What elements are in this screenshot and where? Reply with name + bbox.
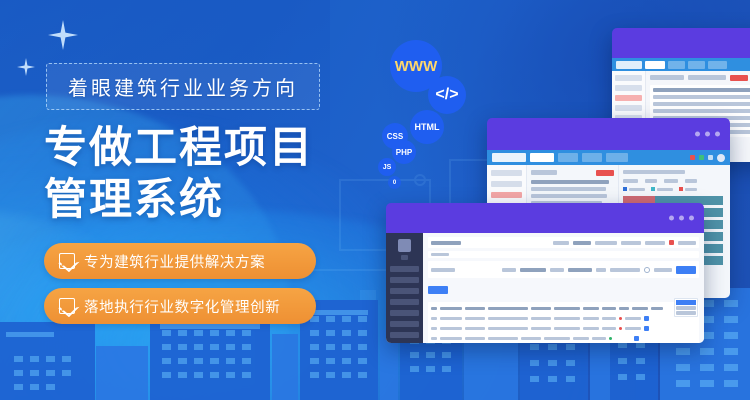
- nav-tab[interactable]: [688, 61, 705, 69]
- toolbar-item-active[interactable]: [573, 241, 591, 245]
- filter-field[interactable]: [520, 268, 546, 272]
- tech-bubble-zero-label: 0: [393, 180, 396, 186]
- table-row: [653, 95, 750, 99]
- notification-icon[interactable]: [690, 155, 695, 160]
- nav-tab[interactable]: [558, 153, 578, 162]
- sidebar-item-active[interactable]: [491, 192, 522, 198]
- edit-icon[interactable]: [644, 326, 649, 331]
- sidebar-item[interactable]: [491, 181, 522, 187]
- status-badge: [609, 337, 612, 340]
- menu-item[interactable]: [676, 311, 696, 315]
- table-row: [653, 88, 750, 92]
- menu-item-active[interactable]: [676, 300, 696, 305]
- dashboard-window-front[interactable]: [386, 203, 704, 343]
- field-label: [531, 170, 557, 175]
- toolbar-item[interactable]: [595, 241, 617, 245]
- axis-tick-label: [685, 179, 697, 183]
- primary-button[interactable]: [730, 75, 748, 81]
- sidebar-item[interactable]: [390, 299, 419, 305]
- filter-field[interactable]: [502, 268, 516, 272]
- sidebar-item[interactable]: [615, 75, 642, 81]
- feature-pill-2[interactable]: 落地执行行业数字化管理创新: [44, 288, 316, 324]
- sidebar-item[interactable]: [390, 310, 419, 316]
- chart-title: [623, 170, 685, 174]
- search-button[interactable]: [676, 266, 696, 274]
- sidebar-item[interactable]: [390, 277, 419, 283]
- table-row[interactable]: [431, 315, 696, 322]
- user-menu[interactable]: [678, 241, 696, 245]
- headline-line-2: 管理系统: [44, 174, 364, 226]
- toolbar-item[interactable]: [553, 241, 569, 245]
- notification-badge[interactable]: [669, 240, 674, 245]
- checkbox-check-icon: [59, 253, 75, 269]
- edit-icon[interactable]: [644, 316, 649, 321]
- collapse-icon[interactable]: [401, 255, 408, 260]
- table-row: [653, 102, 750, 106]
- promotional-banner: 着眼建筑行业业务方向 专做工程项目 管理系统 专为建筑行业提供解决方案 落地执行…: [0, 0, 750, 400]
- nav-tab[interactable]: [708, 61, 727, 69]
- sidebar-item[interactable]: [491, 170, 522, 176]
- nav-tab[interactable]: [530, 153, 554, 162]
- settings-icon[interactable]: [708, 155, 713, 160]
- tab-label[interactable]: [431, 253, 449, 256]
- filter-field[interactable]: [654, 268, 672, 272]
- tech-bubble-code: </>: [428, 76, 466, 114]
- nav-tab[interactable]: [606, 153, 628, 162]
- axis-tick-label: [664, 179, 678, 183]
- field-label: [688, 75, 726, 80]
- sidebar-item[interactable]: [390, 321, 419, 327]
- toolbar-item[interactable]: [645, 241, 665, 245]
- page-title: 专做工程项目 管理系统: [44, 122, 364, 226]
- window-nav-header-back: [612, 58, 750, 71]
- window-titlebar-front: [386, 203, 704, 233]
- tagline-text: 着眼建筑行业业务方向: [68, 72, 298, 101]
- toolbar-item[interactable]: [621, 241, 641, 245]
- window-content-front: [386, 233, 704, 343]
- tech-bubble-js-label: JS: [383, 164, 392, 171]
- headline-line-1: 专做工程项目: [44, 122, 364, 174]
- feature-pill-2-label: 落地执行行业数字化管理创新: [84, 296, 280, 317]
- table-row[interactable]: [431, 335, 696, 342]
- sidebar-item-active[interactable]: [615, 95, 642, 101]
- filter-field[interactable]: [550, 268, 564, 272]
- menu-item[interactable]: [676, 306, 696, 310]
- tech-bubble-js: JS: [378, 158, 396, 176]
- tech-bubble-html: HTML: [410, 110, 444, 144]
- window-controls[interactable]: [695, 132, 720, 137]
- axis-tick-label: [645, 179, 657, 183]
- window-titlebar-middle: [487, 118, 730, 150]
- primary-button[interactable]: [596, 170, 614, 176]
- app-logo: [492, 153, 526, 162]
- table-row: [653, 109, 750, 113]
- window-titlebar-back: [612, 28, 750, 58]
- context-menu[interactable]: [674, 298, 698, 317]
- sparkle-icon: [17, 58, 35, 76]
- tech-bubble-www-label: WWW: [395, 58, 437, 75]
- axis-tick-label: [623, 179, 638, 183]
- message-icon[interactable]: [699, 155, 704, 160]
- tech-bubble-zero: 0: [388, 176, 401, 189]
- feature-pill-1[interactable]: 专为建筑行业提供解决方案: [44, 243, 316, 279]
- window-nav-header-middle: [487, 150, 730, 165]
- top-toolbar: [428, 237, 699, 248]
- filter-field[interactable]: [610, 268, 640, 272]
- sidebar-item[interactable]: [615, 85, 642, 91]
- status-badge: [619, 317, 622, 320]
- status-badge: [619, 327, 622, 330]
- checkbox-check-icon: [59, 298, 75, 314]
- tech-bubble-code-label: </>: [435, 86, 458, 104]
- tech-bubble-php: PHP: [392, 140, 416, 164]
- feature-pill-1-label: 专为建筑行业提供解决方案: [84, 251, 265, 272]
- list-item[interactable]: [531, 187, 606, 191]
- field-label: [650, 75, 684, 80]
- filter-label: [431, 268, 455, 272]
- filter-field[interactable]: [568, 268, 592, 272]
- avatar[interactable]: [717, 154, 725, 162]
- nav-tab[interactable]: [645, 61, 665, 69]
- list-item[interactable]: [531, 194, 607, 198]
- add-button[interactable]: [428, 286, 448, 294]
- tech-bubble-html-label: HTML: [415, 122, 440, 132]
- tagline-box: 着眼建筑行业业务方向: [46, 63, 320, 110]
- tech-bubble-php-label: PHP: [396, 148, 412, 157]
- filter-field[interactable]: [596, 268, 606, 272]
- edit-icon[interactable]: [634, 336, 639, 341]
- sparkle-icon: [48, 20, 78, 50]
- sidebar-front[interactable]: [386, 233, 423, 343]
- data-table: [428, 302, 699, 343]
- sidebar-item[interactable]: [390, 288, 419, 294]
- app-logo-icon: [398, 239, 411, 252]
- list-item[interactable]: [531, 180, 609, 184]
- table-row[interactable]: [431, 325, 696, 332]
- reset-icon[interactable]: [644, 267, 650, 273]
- filter-bar: [428, 261, 699, 278]
- nav-tab[interactable]: [582, 153, 602, 162]
- window-controls[interactable]: [669, 216, 694, 221]
- sidebar-item[interactable]: [615, 105, 642, 111]
- sidebar-item[interactable]: [390, 332, 419, 338]
- chart-legend: [623, 187, 726, 191]
- sidebar-item[interactable]: [390, 266, 419, 272]
- content-area-front: [423, 233, 704, 343]
- nav-tab[interactable]: [668, 61, 685, 69]
- breadcrumb: [431, 241, 461, 245]
- app-logo: [616, 61, 642, 69]
- table-header-row: [431, 305, 696, 312]
- tech-bubble-css-label: CSS: [387, 132, 403, 141]
